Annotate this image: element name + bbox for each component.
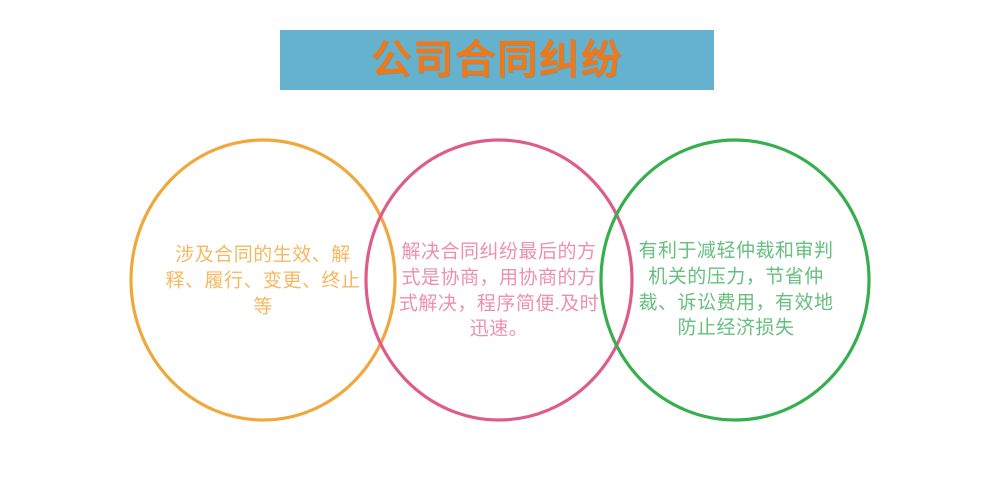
venn-circles-svg [0, 0, 1000, 500]
venn-circle-left[interactable] [131, 140, 395, 420]
venn-circle-middle[interactable] [366, 140, 632, 420]
slide-canvas: 公司合同纠纷 涉及合同的生效、解释、履行、变更、终止等 解决合同纠纷最后的方式是… [0, 0, 1000, 500]
venn-circle-right[interactable] [601, 140, 869, 420]
venn-diagram: 涉及合同的生效、解释、履行、变更、终止等 解决合同纠纷最后的方式是协商，用协商的… [0, 0, 1000, 500]
